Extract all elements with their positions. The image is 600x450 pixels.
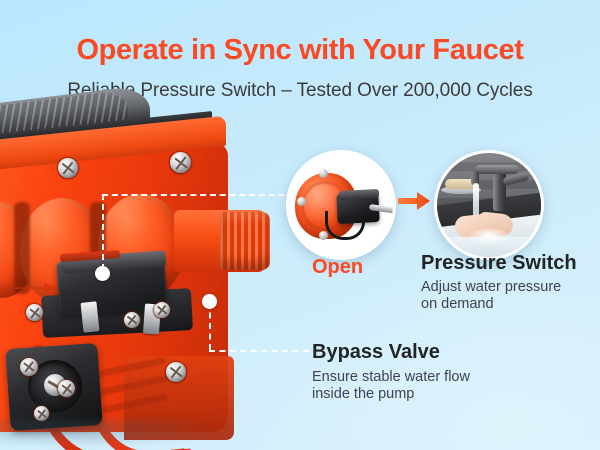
- pressure-switch-title: Pressure Switch: [421, 252, 577, 275]
- inset-screw: [297, 197, 306, 206]
- housing-screw: [166, 362, 186, 382]
- inset-screw: [319, 169, 328, 178]
- leader-dot-bypass-valve: [202, 294, 217, 309]
- switch-terminal-1: [80, 301, 99, 333]
- housing-screw: [20, 358, 38, 376]
- housing-screw: [58, 158, 78, 178]
- flow-direction-embossed-arrow-1: [8, 282, 58, 294]
- product-image-pump: [0, 106, 274, 450]
- water-splash: [467, 229, 511, 245]
- bypass-valve-description: Ensure stable water flow inside the pump: [312, 369, 470, 403]
- inset-screw: [319, 231, 328, 240]
- leader-line-horizontal-switch: [102, 194, 314, 196]
- faucet-spout-arm: [475, 165, 519, 174]
- chamber-valley-1: [14, 202, 30, 294]
- housing-screw: [58, 380, 75, 397]
- pump-adjust-inset: [286, 150, 396, 260]
- leader-line-horizontal-bypass: [209, 350, 309, 352]
- bypass-valve-title: Bypass Valve: [312, 341, 440, 364]
- housing-screw: [124, 312, 140, 328]
- flow-arrow-icon: [398, 192, 430, 210]
- housing-screw: [26, 304, 43, 321]
- page-title: Operate in Sync with Your Faucet: [0, 34, 600, 67]
- pressure-switch-description: Adjust water pressure on demand: [421, 279, 561, 313]
- housing-screw: [154, 302, 170, 318]
- leader-line-vertical-switch: [102, 194, 104, 270]
- open-label: Open: [312, 256, 363, 279]
- product-shadow: [0, 418, 224, 446]
- housing-screw: [170, 152, 191, 173]
- threaded-outlet: [220, 212, 270, 270]
- faucet-inset: [434, 150, 544, 260]
- leader-line-vertical-bypass: [209, 302, 211, 350]
- promo-banner: Operate in Sync with Your Faucet Reliabl…: [0, 0, 600, 450]
- leader-dot-pressure-switch: [95, 266, 110, 281]
